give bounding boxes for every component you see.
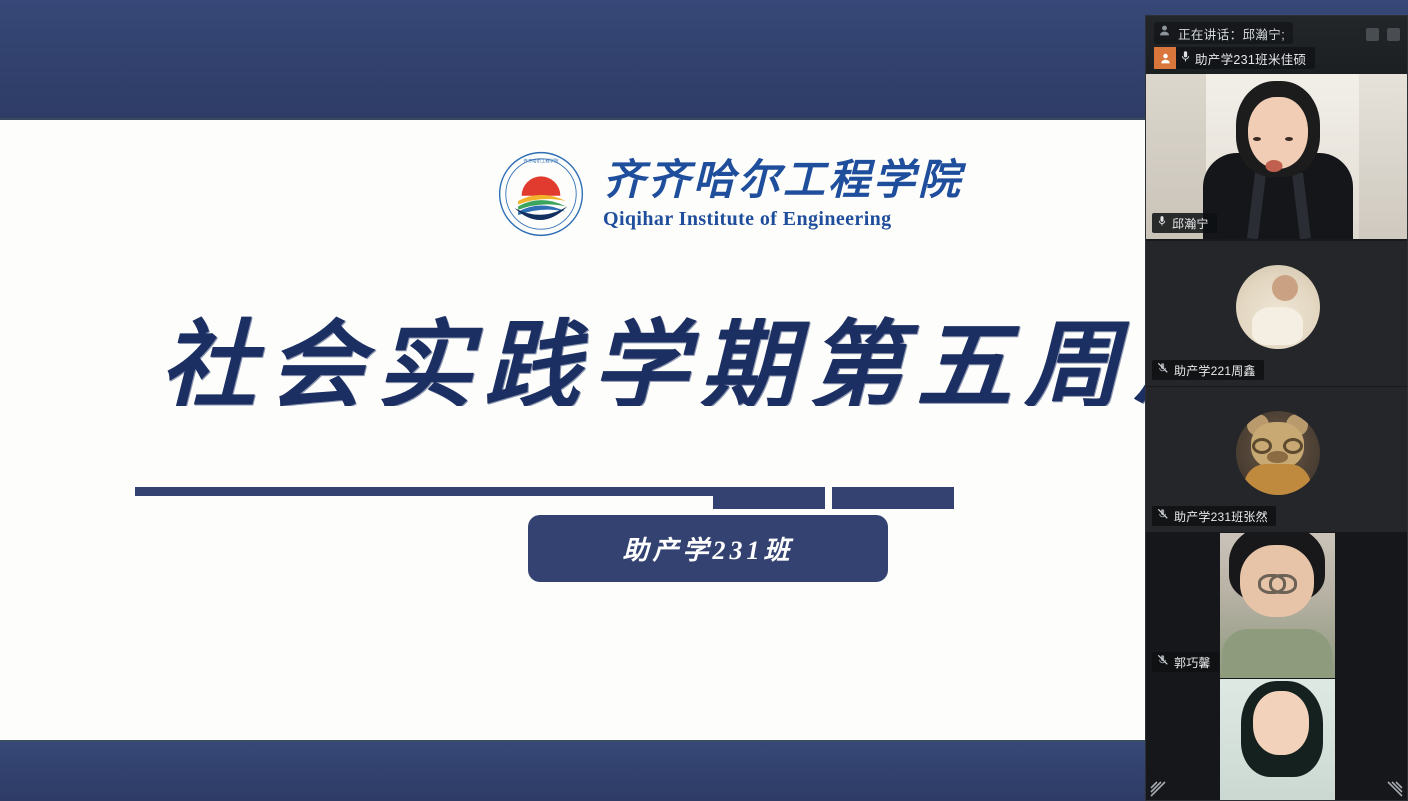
participant-tile[interactable]: 郭巧馨 xyxy=(1146,533,1408,678)
participant-name: 助产学231班张然 xyxy=(1174,508,1268,525)
microphone-muted-icon xyxy=(1157,361,1169,379)
slide-subtitle-text: 助产学231班 xyxy=(622,530,793,567)
screen-share-root: 齐齐哈尔工程学院 齐齐哈尔工程学院 Qiqihar Institute of E… xyxy=(0,0,1408,801)
active-participant-chip[interactable]: 助产学231班米佳硕 xyxy=(1154,47,1315,69)
rule-line xyxy=(135,487,715,496)
maximize-icon[interactable] xyxy=(1387,28,1400,41)
participant-name-chip: 郭巧馨 xyxy=(1152,652,1219,672)
microphone-icon xyxy=(1157,214,1167,232)
microphone-icon xyxy=(1180,50,1191,66)
resize-grip-icon[interactable] xyxy=(1387,781,1403,797)
video-panel-topbar[interactable]: 正在讲话：邱瀚宁; xyxy=(1146,16,1407,74)
university-name-cn: 齐齐哈尔工程学院 xyxy=(603,160,963,202)
window-controls[interactable] xyxy=(1366,28,1400,41)
active-participant-label: 助产学231班米佳硕 xyxy=(1195,49,1306,68)
participant-name-chip: 助产学221周鑫 xyxy=(1152,360,1264,380)
participant-tile[interactable] xyxy=(1146,679,1408,801)
user-avatar-icon xyxy=(1154,47,1176,69)
participant-tile[interactable]: 助产学221周鑫 xyxy=(1146,241,1408,386)
participant-tile[interactable]: 邱瀚宁 xyxy=(1146,74,1408,239)
microphone-muted-icon xyxy=(1157,653,1169,671)
rule-block-left xyxy=(713,487,825,509)
minimize-icon[interactable] xyxy=(1366,28,1379,41)
participant-name-chip: 邱瀚宁 xyxy=(1152,213,1217,233)
rule-block-right xyxy=(832,487,954,509)
active-participant-name: 助产学231班米佳硕 xyxy=(1176,49,1315,68)
participant-name: 助产学221周鑫 xyxy=(1174,362,1256,379)
speaking-status-text: 正在讲话：邱瀚宁; xyxy=(1178,24,1285,43)
university-logo-lockup: 齐齐哈尔工程学院 齐齐哈尔工程学院 Qiqihar Institute of E… xyxy=(497,150,963,238)
speaking-status-bar: 正在讲话：邱瀚宁; xyxy=(1154,22,1293,44)
participant-name: 邱瀚宁 xyxy=(1172,215,1209,232)
participant-tile[interactable]: 助产学231班张然 xyxy=(1146,387,1408,532)
person-speaking-icon xyxy=(1158,24,1171,42)
participant-name: 郭巧馨 xyxy=(1174,654,1211,671)
participant-tile-list: 邱瀚宁 助产学221周鑫 xyxy=(1146,74,1407,801)
slide-subtitle-pill: 助产学231班 xyxy=(528,515,888,582)
qiqihar-institute-emblem-icon: 齐齐哈尔工程学院 xyxy=(497,150,585,238)
webcam-video xyxy=(1146,679,1408,801)
video-conference-panel[interactable]: 正在讲话：邱瀚宁; xyxy=(1145,15,1408,801)
slide-title: 社会实践学期第五周总结 xyxy=(160,288,1170,406)
university-name-en: Qiqihar Institute of Engineering xyxy=(603,209,963,229)
microphone-muted-icon xyxy=(1157,507,1169,525)
resize-grip-icon[interactable] xyxy=(1150,781,1166,797)
participant-name-chip: 助产学231班张然 xyxy=(1152,506,1276,526)
